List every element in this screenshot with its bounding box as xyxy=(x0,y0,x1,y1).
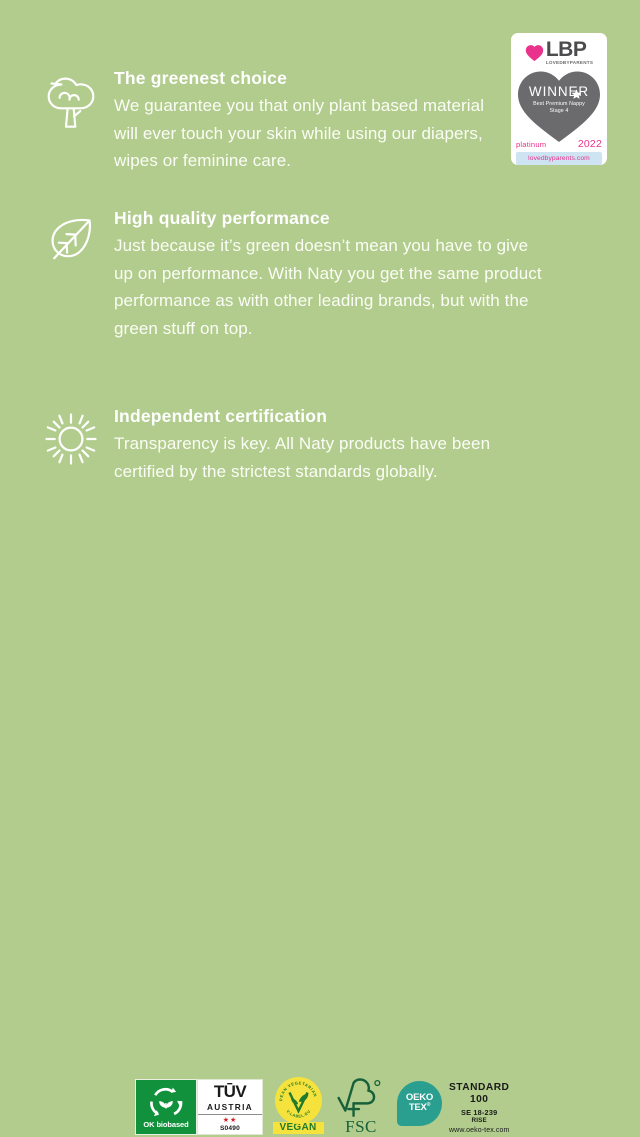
lbp-award-text: WINNER Best Premium Nappy Stage 4 xyxy=(515,85,603,115)
tuv-wordmark: TŪV xyxy=(214,1083,246,1100)
fsc-label: FSC xyxy=(345,1117,377,1137)
promo-panel: The greenest choice We guarantee you tha… xyxy=(0,0,640,640)
leaf-icon xyxy=(28,208,114,274)
sun-icon xyxy=(28,406,114,468)
lbp-url: lovedbyparents.com xyxy=(516,152,602,165)
feature-body: We guarantee you that only plant based m… xyxy=(114,92,498,175)
feature-body: Transparency is key. All Naty products h… xyxy=(114,430,538,485)
ok-biobased-label: OK biobased xyxy=(143,1120,188,1129)
lbp-tier-year-row: platinum 2022 xyxy=(516,138,602,150)
lbp-award-badge: LBP LOVEDBYPARENTS WINNER Best Premium N… xyxy=(511,33,607,165)
tuv-text: TŪV xyxy=(214,1082,246,1101)
svg-text:EUROPEAN VEGETARIAN UNION: EUROPEAN VEGETARIAN UNION xyxy=(275,1077,318,1101)
oeko-url: www.oeko-tex.com xyxy=(449,1127,509,1134)
lbp-brand: LBP xyxy=(546,40,587,60)
feature-body: Just because it’s green doesn’t mean you… xyxy=(114,232,548,342)
heart-icon xyxy=(525,44,544,62)
cert-tuv-austria: TŪV AUSTRIA ★★ S0490 xyxy=(197,1079,263,1135)
lbp-tier: platinum xyxy=(516,140,546,149)
lbp-award-label: WINNER xyxy=(515,85,603,99)
feature-text: High quality performance Just because it… xyxy=(114,208,548,342)
oeko-tex-mark-icon: OEKO TEX® xyxy=(397,1081,442,1126)
feature-title: The greenest choice xyxy=(114,68,498,89)
feature-block-greenest-choice: The greenest choice We guarantee you tha… xyxy=(28,68,498,175)
oeko-certificate-number: SE 18-239 xyxy=(449,1108,509,1117)
feature-text: The greenest choice We guarantee you tha… xyxy=(114,68,498,175)
tuv-stars-icon: ★★ xyxy=(223,1117,238,1124)
fsc-tree-check-icon xyxy=(335,1077,387,1118)
cert-oeko-tex: OEKO TEX® STANDARD 100 SE 18-239 RISE ww… xyxy=(397,1081,522,1135)
feature-block-independent-certification: Independent certification Transparency i… xyxy=(28,406,538,485)
feature-title: High quality performance xyxy=(114,208,548,229)
lbp-brand-sub: LOVEDBYPARENTS xyxy=(546,61,593,66)
cert-ok-biobased: OK biobased xyxy=(135,1079,197,1135)
recycle-leaves-icon xyxy=(145,1083,187,1119)
feature-text: Independent certification Transparency i… xyxy=(114,406,538,485)
cert-fsc: FSC xyxy=(332,1077,390,1137)
feature-title: Independent certification xyxy=(114,406,538,427)
tuv-code: S0490 xyxy=(220,1125,240,1132)
cert-vegan: EUROPEAN VEGETARIAN UNION V-LABEL.EU VEG… xyxy=(268,1077,328,1137)
oeko-mark-line2: TEX® xyxy=(409,1103,430,1113)
certification-logo-strip: OK biobased TŪV AUSTRIA ★★ S0490 xyxy=(0,536,640,612)
lbp-award-stage: Stage 4 xyxy=(515,108,603,115)
vegan-seal-icon: EUROPEAN VEGETARIAN UNION V-LABEL.EU xyxy=(275,1077,322,1124)
lbp-award-category: Best Premium Nappy xyxy=(515,101,603,108)
tree-icon xyxy=(28,68,114,134)
tuv-austria-label: AUSTRIA xyxy=(207,1102,253,1112)
lbp-winner-heart: WINNER Best Premium Nappy Stage 4 xyxy=(515,69,603,142)
oeko-standard-number: 100 xyxy=(449,1094,509,1106)
oeko-institute: RISE xyxy=(449,1117,509,1124)
oeko-tex-details: STANDARD 100 SE 18-239 RISE www.oeko-tex… xyxy=(449,1081,509,1134)
lbp-badge-header: LBP LOVEDBYPARENTS xyxy=(516,38,602,68)
feature-block-high-quality-performance: High quality performance Just because it… xyxy=(28,208,548,342)
lbp-year: 2022 xyxy=(578,138,602,150)
oeko-standard-label: STANDARD xyxy=(449,1082,509,1094)
